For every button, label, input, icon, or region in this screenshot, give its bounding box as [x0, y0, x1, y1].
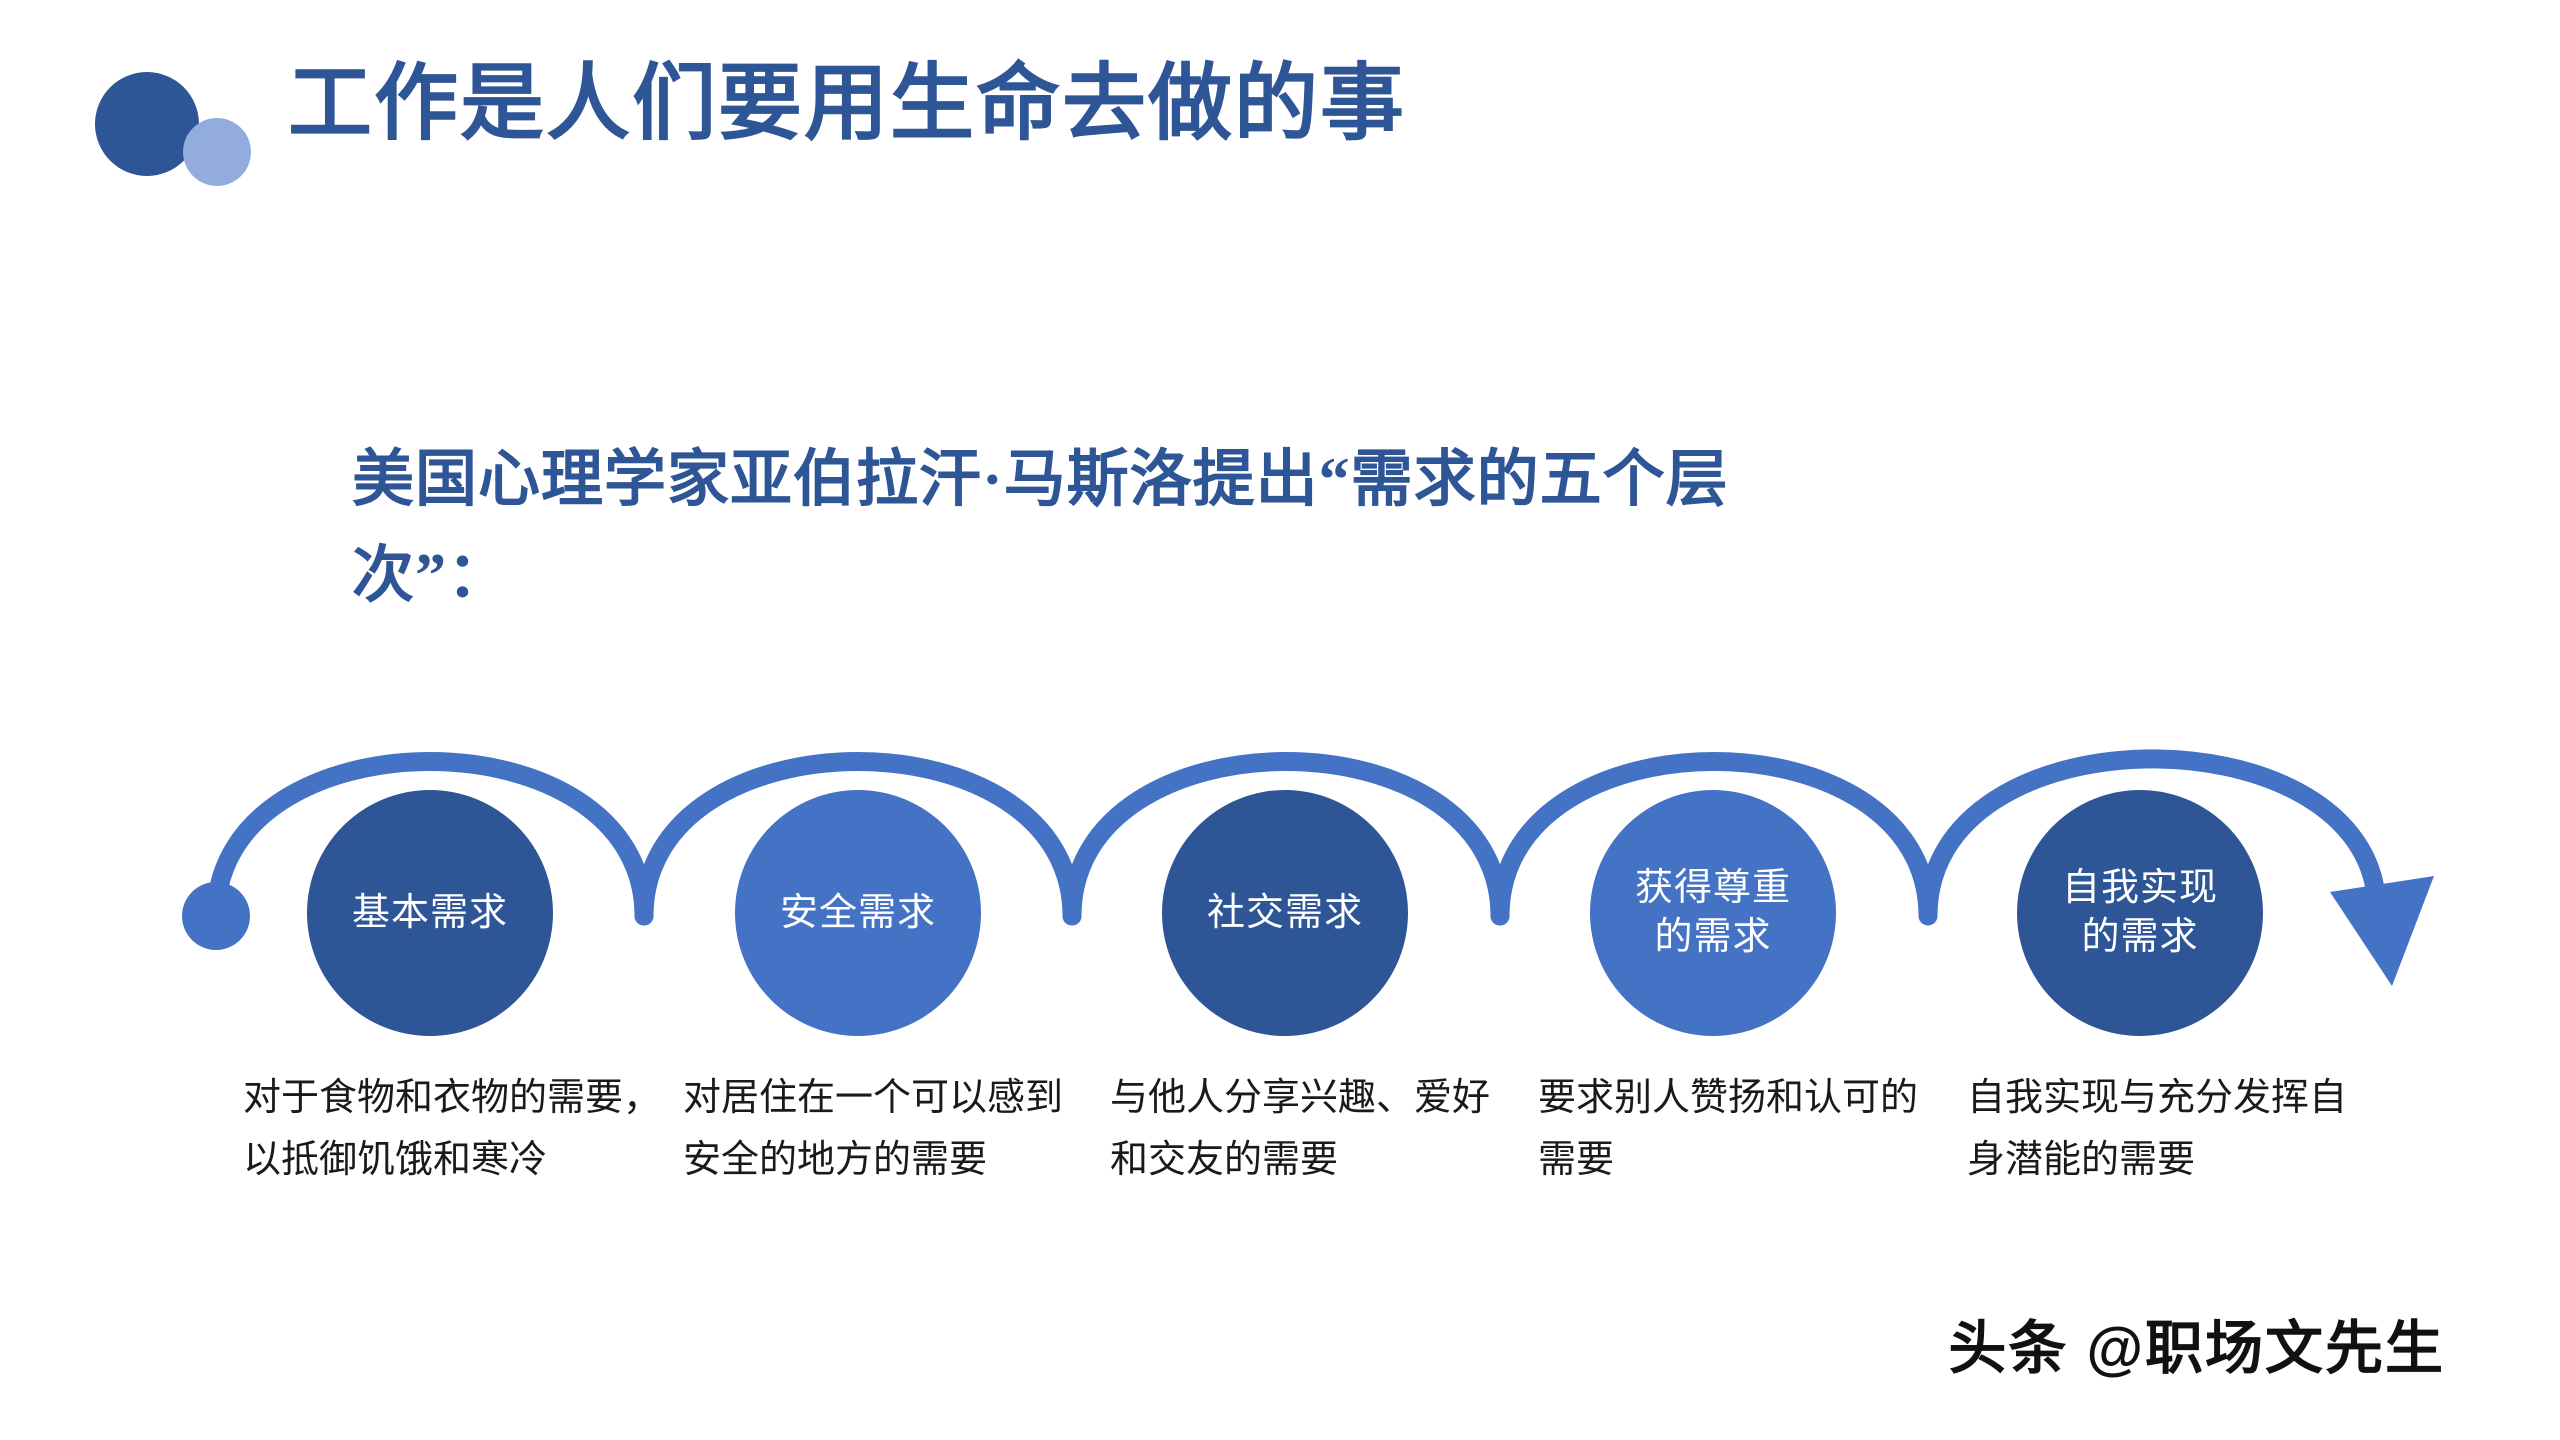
arrow-head-icon: [2330, 876, 2434, 986]
caption-line-2: 以抵御饥饿和寒冷: [243, 1139, 547, 1181]
needs-node-esteem[interactable]: 获得尊重 的需求: [1590, 790, 1836, 1036]
needs-node-label: 获得尊重: [1635, 864, 1791, 913]
caption-self-actualization: 自我实现与充分发挥自 身潜能的需要: [1967, 1068, 2387, 1191]
slide-canvas: 工作是人们要用生命去做的事 美国心理学家亚伯拉汗·马斯洛提出“需求的五个层 次”…: [0, 0, 2560, 1440]
needs-node-label: 安全需求: [780, 889, 936, 938]
lead-line-1: 美国心理学家亚伯拉汗·马斯洛提出“需求的五个层: [352, 446, 1729, 514]
lead-paragraph: 美国心理学家亚伯拉汗·马斯洛提出“需求的五个层 次”：: [352, 432, 2162, 624]
lead-line-2: 次”：: [352, 528, 2162, 624]
caption-esteem: 要求别人赞扬和认可的 需要: [1538, 1068, 1938, 1191]
slide-header: 工作是人们要用生命去做的事: [0, 0, 2560, 260]
caption-line-1: 要求别人赞扬和认可的: [1538, 1077, 1918, 1119]
caption-line-1: 自我实现与充分发挥自: [1967, 1077, 2347, 1119]
needs-node-label-2: 的需求: [1635, 913, 1791, 962]
needs-node-safety[interactable]: 安全需求: [735, 790, 981, 1036]
caption-line-2: 身潜能的需要: [1967, 1139, 2195, 1181]
decorative-dot-small-icon: [183, 118, 251, 186]
caption-basic: 对于食物和衣物的需要， 以抵御饥饿和寒冷: [243, 1068, 663, 1191]
needs-node-label: 社交需求: [1207, 889, 1363, 938]
needs-node-label: 自我实现: [2062, 864, 2218, 913]
needs-node-label-2: 的需求: [2062, 913, 2218, 962]
caption-line-2: 和交友的需要: [1110, 1139, 1338, 1181]
caption-row: 对于食物和衣物的需要， 以抵御饥饿和寒冷 对居住在一个可以感到 安全的地方的需要…: [0, 1068, 2560, 1268]
caption-line-2: 安全的地方的需要: [683, 1139, 987, 1181]
caption-social: 与他人分享兴趣、爱好 和交友的需要: [1110, 1068, 1510, 1191]
caption-line-1: 与他人分享兴趣、爱好: [1110, 1077, 1490, 1119]
needs-node-label: 基本需求: [352, 889, 508, 938]
needs-node-self-actualization[interactable]: 自我实现 的需求: [2017, 790, 2263, 1036]
caption-line-1: 对居住在一个可以感到: [683, 1077, 1063, 1119]
caption-line-1: 对于食物和衣物的需要，: [243, 1077, 661, 1119]
needs-node-social[interactable]: 社交需求: [1162, 790, 1408, 1036]
caption-safety: 对居住在一个可以感到 安全的地方的需要: [683, 1068, 1083, 1191]
watermark: 头条 @职场文先生: [1948, 1301, 2445, 1385]
needs-node-basic[interactable]: 基本需求: [307, 790, 553, 1036]
caption-line-2: 需要: [1538, 1139, 1614, 1181]
page-title: 工作是人们要用生命去做的事: [288, 58, 1406, 152]
